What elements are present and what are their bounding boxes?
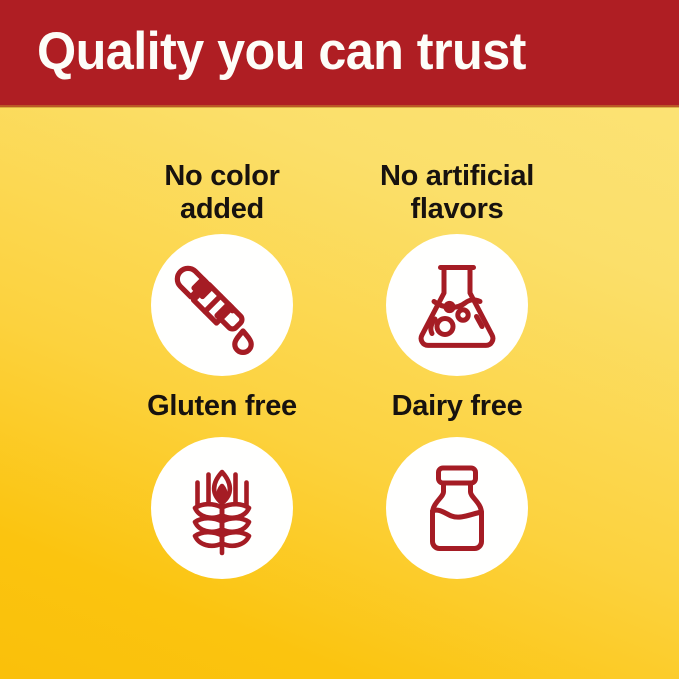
page-title: Quality you can trust: [37, 19, 526, 85]
wheat-icon: [170, 456, 274, 560]
header-banner: Quality you can trust: [0, 0, 679, 107]
badge-label: Gluten free: [107, 390, 337, 423]
badge-icon-container: [342, 437, 572, 579]
milk-bottle-icon: [405, 456, 509, 560]
badge-icon-container: [107, 234, 337, 376]
dropper-icon: [170, 253, 274, 357]
badge-label: Dairy free: [342, 390, 572, 423]
badge-icon-circle: [151, 437, 293, 579]
badge-label: No artificial flavors: [342, 160, 572, 226]
quality-badges-graphic: Quality you can trust No color added: [0, 0, 679, 679]
badge-icon-circle: [386, 437, 528, 579]
badge-icon-container: [107, 437, 337, 579]
flask-icon: [405, 253, 509, 357]
badge-no-artificial-flavors: No artificial flavors: [342, 160, 572, 376]
badge-icon-container: [342, 234, 572, 376]
badge-no-color-added: No color added: [107, 160, 337, 376]
badge-icon-circle: [151, 234, 293, 376]
badge-gluten-free: Gluten free: [107, 390, 337, 579]
badge-icon-circle: [386, 234, 528, 376]
badge-label: No color added: [107, 160, 337, 226]
badge-grid: No color added: [0, 107, 679, 679]
badge-dairy-free: Dairy free: [342, 390, 572, 579]
